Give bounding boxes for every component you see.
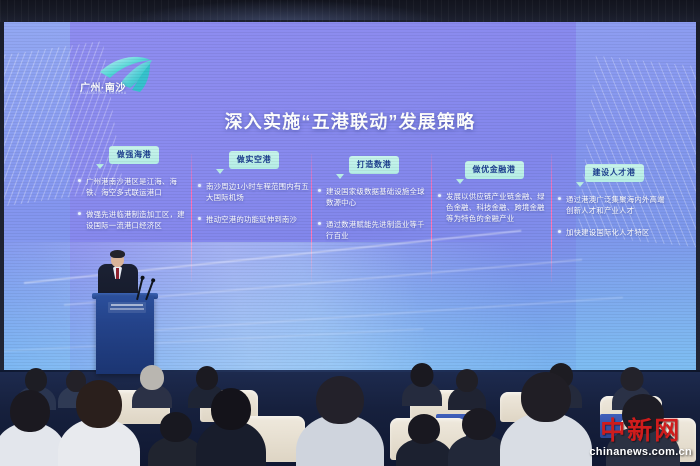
bullet-text: 建设国家级数据基础设施全球数源中心 — [326, 187, 425, 207]
watermark-url: chinanews.com.cn — [589, 446, 692, 458]
person-head — [160, 412, 192, 442]
card-header-wrap: 建设人才港 — [558, 162, 670, 182]
person-head — [76, 380, 122, 428]
bullet-dot-icon — [558, 230, 561, 233]
card-bullets: 广州港南沙港区是江海、海铁、海空多式联运港口 做强先进临港制造加工区，建设国际一… — [78, 176, 190, 231]
speaker-hair — [110, 250, 125, 258]
bullet-item: 推动空港的功能延伸到南沙 — [198, 214, 310, 225]
bullet-text: 南沙周边1小时车程范围内有五大国际机场 — [206, 182, 309, 202]
logo-name-en: GUANGZHOU NANSHA — [80, 91, 127, 95]
bullet-item: 通过数港赋能先进制造业等千行百业 — [318, 219, 430, 241]
podium-nameplate — [108, 302, 146, 313]
audience-member — [196, 394, 266, 466]
bullet-dot-icon — [78, 179, 81, 182]
conference-photo: 广州·南沙 GUANGZHOU NANSHA 深入实施“五港联动”发展策略 做强… — [0, 0, 700, 466]
person-head — [462, 408, 496, 440]
card-header: 做实空港 — [229, 151, 279, 169]
bullet-text: 广州港南沙港区是江海、海铁、海空多式联运港口 — [86, 177, 177, 197]
bullet-text: 发展以供应链产业链金融、绿色金融、科技金融、跨境金融等为特色的金融产业 — [446, 192, 545, 223]
bullet-item: 发展以供应链产业链金融、绿色金融、科技金融、跨境金融等为特色的金融产业 — [438, 191, 550, 224]
audience-member — [402, 366, 442, 406]
card-bullets: 发展以供应链产业链金融、绿色金融、科技金融、跨境金融等为特色的金融产业 — [438, 191, 550, 224]
card-bullets: 南沙周边1小时车程范围内有五大国际机场 推动空港的功能延伸到南沙 — [198, 181, 310, 225]
card-header-tail — [216, 169, 224, 174]
slide-title: 深入实施“五港联动”发展策略 — [4, 108, 696, 134]
card-header-tail — [456, 179, 464, 184]
bullet-dot-icon — [198, 217, 201, 220]
audience-member — [296, 382, 384, 466]
bullet-text: 加快建设国际化人才特区 — [566, 228, 650, 237]
audience-member — [500, 380, 592, 466]
bullet-item: 通过港澳广泛集聚海内外高端创新人才和产业人才 — [558, 194, 670, 216]
ceiling-band — [0, 0, 700, 22]
person-head — [316, 376, 364, 424]
person-head — [211, 388, 251, 430]
card-header-tail — [336, 174, 344, 179]
bullet-dot-icon — [438, 194, 441, 197]
bullet-dot-icon — [78, 212, 81, 215]
person-head — [411, 363, 434, 387]
card-header: 打造数港 — [349, 156, 399, 174]
card-bullets: 建设国家级数据基础设施全球数源中心 通过数港赋能先进制造业等千行百业 — [318, 186, 430, 241]
light-streak — [144, 297, 623, 332]
speaker-tie — [116, 268, 119, 279]
card-header-wrap: 打造数港 — [318, 154, 430, 174]
bullet-item: 广州港南沙港区是江海、海铁、海空多式联运港口 — [78, 176, 190, 198]
light-streak — [4, 328, 423, 352]
card-header: 做优金融港 — [465, 161, 524, 179]
ceiling-glow — [120, 0, 450, 20]
bullet-item: 加快建设国际化人才特区 — [558, 227, 670, 238]
bullet-dot-icon — [558, 197, 561, 200]
bullet-item: 建设国家级数据基础设施全球数源中心 — [318, 186, 430, 208]
card-header: 建设人才港 — [585, 164, 644, 182]
card-header-wrap: 做强海港 — [78, 144, 190, 164]
person-head — [10, 390, 50, 432]
person-head — [196, 366, 218, 390]
person-head — [456, 369, 478, 392]
card-header-tail — [576, 182, 584, 187]
watermark: 中新网 chinanews.com.cn — [589, 418, 692, 458]
card-header: 做强海港 — [109, 146, 159, 164]
audience-member — [58, 388, 140, 466]
person-head — [408, 414, 440, 444]
person-head — [621, 367, 644, 391]
audience-member — [448, 372, 486, 410]
card-header-wrap: 做实空港 — [198, 149, 310, 169]
watermark-logo-text: 中新网 — [589, 418, 692, 443]
card-header-tail — [96, 164, 104, 169]
person-head — [140, 365, 164, 390]
bullet-dot-icon — [198, 184, 201, 187]
bullet-dot-icon — [318, 222, 321, 225]
bullet-text: 推动空港的功能延伸到南沙 — [206, 215, 297, 224]
bullet-text: 通过港澳广泛集聚海内外高端创新人才和产业人才 — [566, 195, 665, 215]
bullet-dot-icon — [318, 189, 321, 192]
bullet-item: 做强先进临港制造加工区，建设国际一流港口经济区 — [78, 209, 190, 231]
nameplate-line — [111, 304, 143, 306]
person-head — [521, 372, 571, 422]
person-head — [25, 368, 47, 392]
nameplate-line — [110, 308, 144, 310]
audience-member — [0, 396, 66, 466]
card-header-wrap: 做优金融港 — [438, 159, 550, 179]
nansha-logo: 广州·南沙 GUANGZHOU NANSHA — [76, 54, 168, 100]
bullet-text: 通过数港赋能先进制造业等千行百业 — [326, 220, 425, 240]
card-bullets: 通过港澳广泛集聚海内外高端创新人才和产业人才 加快建设国际化人才特区 — [558, 194, 670, 238]
bullet-item: 南沙周边1小时车程范围内有五大国际机场 — [198, 181, 310, 203]
bullet-text: 做强先进临港制造加工区，建设国际一流港口经济区 — [86, 210, 185, 230]
audience-member — [396, 422, 452, 466]
